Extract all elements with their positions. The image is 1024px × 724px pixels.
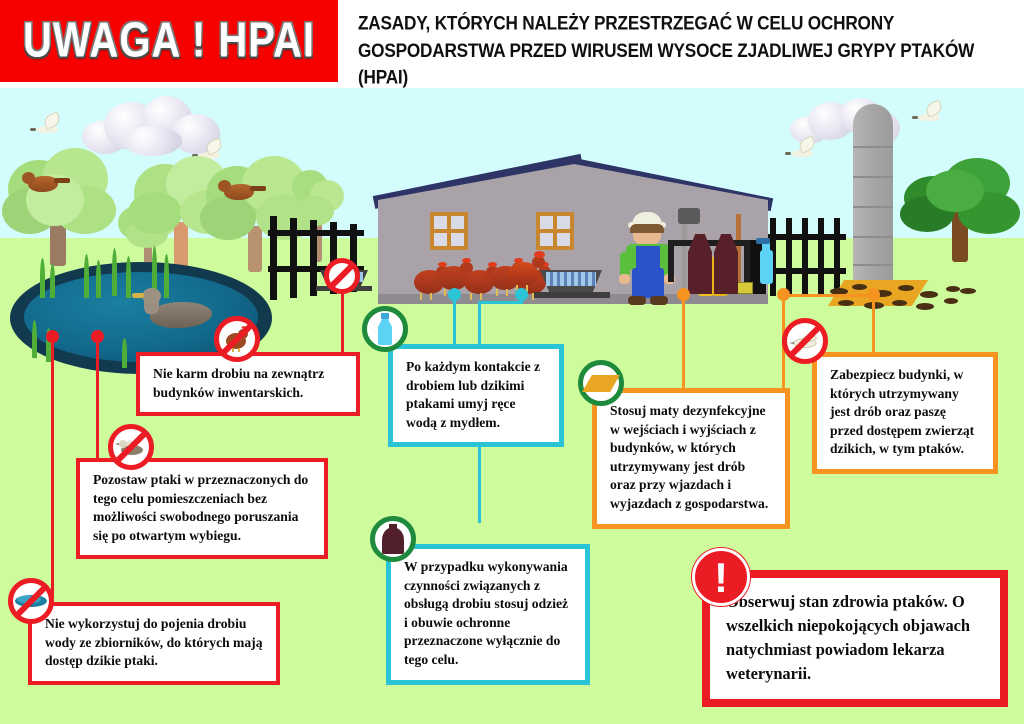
info-box-secure-buildings[interactable]: Zabezpiecz budynki, w których utrzymywan…: [812, 352, 998, 474]
info-box-observe-health[interactable]: Obserwuj stan zdrowia ptaków. O wszelkic…: [702, 570, 1008, 707]
info-box-text: Zabezpiecz budynki, w których utrzymywan…: [817, 357, 993, 469]
info-box-keep-birds-enclosed[interactable]: Pozostaw ptaki w przeznaczonych do tego …: [76, 458, 328, 559]
info-box-text: Obserwuj stan zdrowia ptaków. O wszelkic…: [710, 578, 1000, 699]
spray-bottle-trigger: [756, 238, 770, 244]
no-wild-bird-icon: [782, 318, 828, 364]
connector-dot: [867, 288, 880, 301]
connector-line: [96, 336, 99, 464]
no-feeder-icon: [324, 258, 360, 294]
reed: [126, 256, 131, 298]
tree: [2, 140, 122, 264]
header-subtitle: ZASADY, KTÓRYCH NALEŻY PRZESTRZEGAĆ W CE…: [358, 10, 1018, 91]
soap-bottle-icon: [362, 306, 408, 352]
shovel-blade: [678, 208, 700, 224]
connector-dot: [46, 330, 59, 343]
soap-bottle-glyph: [375, 313, 395, 345]
reed: [40, 258, 45, 298]
info-box-no-open-water[interactable]: Nie wykorzystuj do pojenia drobiu wody z…: [28, 602, 280, 685]
no-chicken-icon: [214, 316, 260, 362]
reed: [84, 254, 89, 298]
mat-glyph: [582, 375, 620, 392]
apron-glyph: [382, 524, 404, 554]
connector-dot: [515, 288, 528, 301]
connector-line: [453, 294, 456, 350]
barn-window: [536, 212, 574, 250]
connector-dot: [677, 288, 690, 301]
apron-rack-leg: [744, 240, 750, 282]
reed: [50, 264, 55, 298]
reed: [32, 320, 37, 358]
no-pond-water-icon: [8, 578, 54, 624]
apron-icon: [370, 516, 416, 562]
shovel-handle: [682, 216, 687, 292]
reed: [112, 248, 117, 296]
no-free-range-bird-icon: [108, 424, 154, 470]
reed: [122, 338, 127, 368]
info-box-disinfection-mats[interactable]: Stosuj maty dezynfekcyjne w wejściach i …: [592, 388, 790, 529]
feeder-base: [534, 292, 610, 298]
connector-dot: [91, 330, 104, 343]
apron-rack-leg: [668, 240, 674, 282]
exclamation-glyph: !: [695, 554, 747, 602]
spray-bottle: [760, 250, 773, 284]
connector-line: [51, 336, 54, 598]
connector-dot: [448, 288, 461, 301]
barn-window: [430, 212, 468, 250]
info-box-wash-hands[interactable]: Po każdym kontakcie z drobiem lub dzikim…: [388, 344, 564, 447]
header-badge-title: UWAGA ! HPAI: [0, 14, 338, 69]
reed: [96, 260, 101, 298]
connector-line: [478, 301, 523, 304]
info-box-no-outdoor-feeding[interactable]: Nie karm drobiu na zewnątrz budynków inw…: [136, 352, 360, 416]
connector-line: [782, 294, 872, 297]
disinfection-mat-icon: [578, 360, 624, 406]
poster-header: UWAGA ! HPAI ZASADY, KTÓRYCH NALEŻY PRZE…: [0, 0, 1024, 88]
silo: [853, 104, 893, 294]
exclamation-icon: !: [692, 548, 750, 606]
info-box-text: Nie wykorzystuj do pojenia drobiu wody z…: [32, 606, 276, 681]
connector-dot: [777, 288, 790, 301]
feeder-grid: [546, 272, 596, 286]
fence: [768, 218, 846, 296]
info-box-text: Po każdym kontakcie z drobiem lub dzikim…: [393, 349, 559, 442]
info-box-text: Stosuj maty dezynfekcyjne w wejściach i …: [597, 393, 785, 524]
info-box-text: Pozostaw ptaki w przeznaczonych do tego …: [80, 462, 324, 555]
info-box-text: Nie karm drobiu na zewnątrz budynków inw…: [140, 356, 356, 412]
info-box-text: W przypadku wykonywania czynności związa…: [391, 549, 585, 680]
tree: [900, 150, 1024, 262]
poster: UWAGA ! HPAI ZASADY, KTÓRYCH NALEŻY PRZE…: [0, 0, 1024, 724]
connector-line: [682, 294, 685, 398]
reed: [164, 254, 169, 298]
info-box-protective-clothing[interactable]: W przypadku wykonywania czynności związa…: [386, 544, 590, 685]
